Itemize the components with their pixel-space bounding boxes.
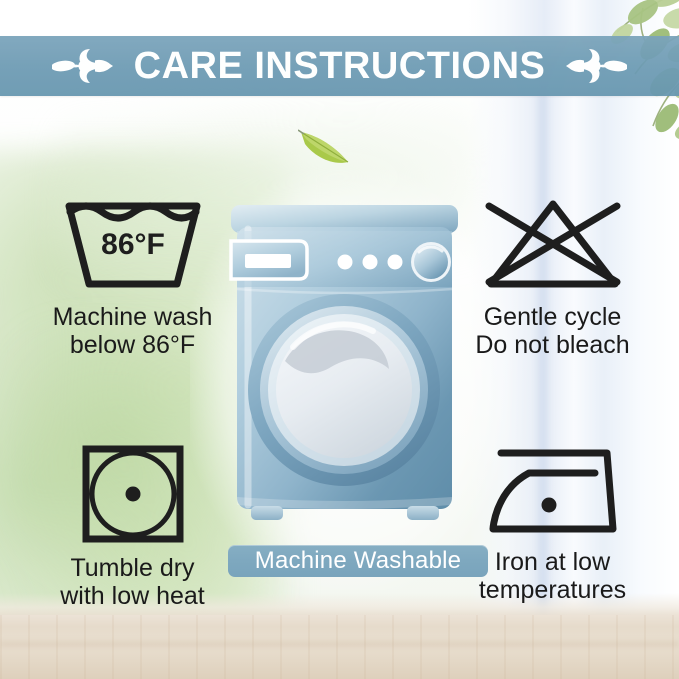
- care-symbol-label: Gentle cycle Do not bleach: [475, 303, 629, 359]
- care-symbol-iron: Iron at low temperatures: [440, 443, 665, 604]
- badge-label: Machine Washable: [255, 549, 461, 573]
- care-instructions-infographic: CARE INSTRUCTIONS: [0, 0, 679, 679]
- washer-indicator-dots: [338, 255, 403, 270]
- header-banner: CARE INSTRUCTIONS: [0, 36, 679, 96]
- triangle-crossed-out-icon: [479, 196, 627, 294]
- care-symbol-do-not-bleach: Gentle cycle Do not bleach: [440, 196, 665, 359]
- care-symbol-machine-wash: 86°F Machine wash below 86°F: [20, 196, 245, 359]
- tumble-dry-square-circle-icon: [78, 443, 188, 545]
- washer-door: [248, 294, 440, 486]
- care-symbol-tumble-dry: Tumble dry with low heat: [20, 443, 245, 610]
- care-symbol-label: Tumble dry with low heat: [60, 554, 205, 610]
- care-symbol-label: Machine wash below 86°F: [53, 303, 213, 359]
- floating-leaf-icon: [298, 122, 360, 170]
- care-symbol-label: Iron at low temperatures: [479, 548, 626, 604]
- wash-temperature-text: 86°F: [101, 228, 165, 261]
- machine-washable-badge: Machine Washable: [228, 545, 488, 577]
- iron-one-dot-icon: [479, 443, 627, 539]
- page-title: CARE INSTRUCTIONS: [134, 47, 546, 85]
- washing-machine-illustration: [223, 205, 466, 535]
- wash-tub-icon: 86°F: [59, 196, 207, 294]
- fleur-de-lis-ornament-icon: [565, 44, 627, 88]
- wood-grain-line: [0, 639, 679, 649]
- fleur-de-lis-ornament-icon: [52, 44, 114, 88]
